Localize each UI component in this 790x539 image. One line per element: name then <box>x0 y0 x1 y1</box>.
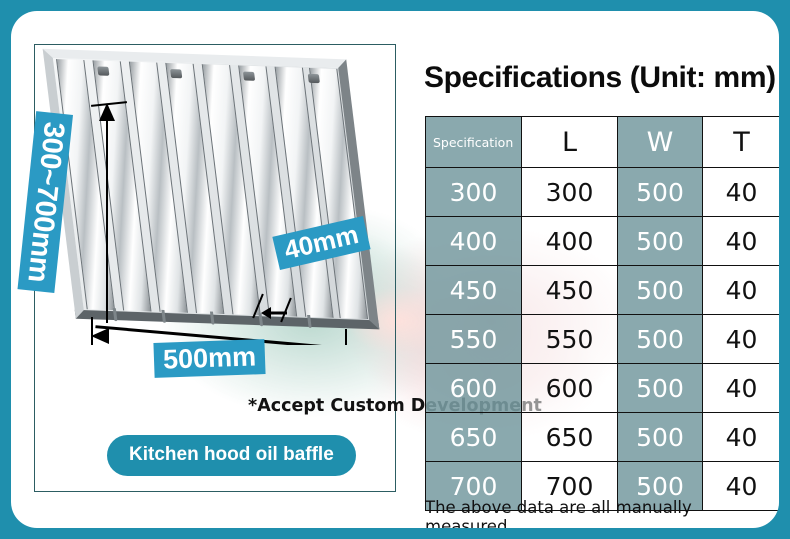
cell-w: 500 <box>618 217 703 266</box>
width-dimension-badge: 500mm <box>153 339 265 378</box>
table-row: 400 400 500 40 <box>426 217 780 266</box>
thickness-arrow <box>261 307 287 319</box>
width-arrow-left <box>91 328 109 344</box>
cell-l: 600 <box>522 364 618 413</box>
cell-spec: 450 <box>426 266 522 315</box>
cell-t: 40 <box>703 168 780 217</box>
cell-l: 300 <box>522 168 618 217</box>
cell-l: 550 <box>522 315 618 364</box>
cell-t: 40 <box>703 266 780 315</box>
height-arrow-head <box>99 103 115 121</box>
cell-l: 650 <box>522 413 618 462</box>
cell-spec: 650 <box>426 413 522 462</box>
baffle-illustration <box>52 59 368 319</box>
specifications-title: Specifications (Unit: mm) <box>424 61 776 95</box>
content-card: 300~700mm 40mm 500mm *Accept Custom Deve… <box>11 11 779 528</box>
cell-spec: 550 <box>426 315 522 364</box>
table-header-l: L <box>522 117 618 168</box>
table-row: 650 650 500 40 <box>426 413 780 462</box>
cell-w: 500 <box>618 315 703 364</box>
cell-t: 40 <box>703 413 780 462</box>
cell-l: 400 <box>522 217 618 266</box>
table-row: 300 300 500 40 <box>426 168 780 217</box>
product-name-pill: Kitchen hood oil baffle <box>107 435 356 476</box>
cell-t: 40 <box>703 364 780 413</box>
product-photo <box>35 45 395 345</box>
table-header-row: Specification L W T <box>426 117 780 168</box>
table-row: 450 450 500 40 <box>426 266 780 315</box>
cell-t: 40 <box>703 217 780 266</box>
specifications-table: Specification L W T 300 300 500 40 400 4… <box>425 116 779 511</box>
table-row: 600 600 500 40 <box>426 364 780 413</box>
cell-spec: 300 <box>426 168 522 217</box>
table-row: 550 550 500 40 <box>426 315 780 364</box>
width-tick-left <box>91 317 93 345</box>
cell-l: 450 <box>522 266 618 315</box>
measurement-footnote: The above data are all manually measured… <box>425 498 779 528</box>
cell-w: 500 <box>618 364 703 413</box>
table-header-specification: Specification <box>426 117 522 168</box>
outer-frame: 300~700mm 40mm 500mm *Accept Custom Deve… <box>0 0 790 539</box>
cell-t: 40 <box>703 315 780 364</box>
cell-spec: 400 <box>426 217 522 266</box>
cell-w: 500 <box>618 168 703 217</box>
cell-spec: 600 <box>426 364 522 413</box>
cell-w: 500 <box>618 266 703 315</box>
height-dimension-line <box>106 105 108 323</box>
table-header-w: W <box>618 117 703 168</box>
cell-w: 500 <box>618 413 703 462</box>
table-header-t: T <box>703 117 780 168</box>
width-tick-right <box>345 329 347 345</box>
